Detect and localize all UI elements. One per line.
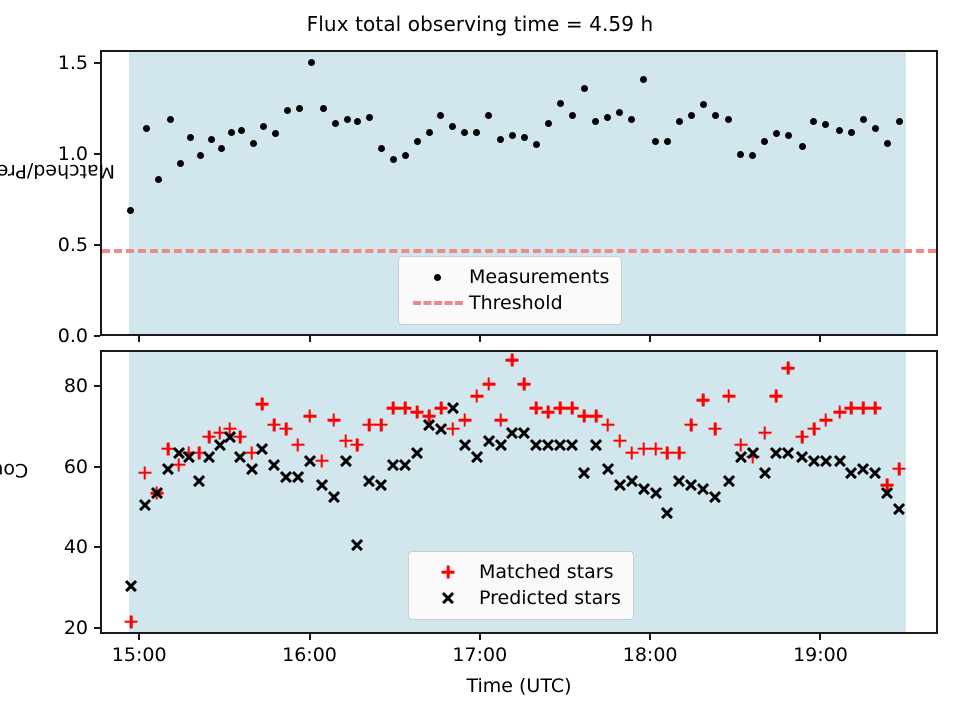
figure-canvas: Flux total observing time = 4.59 h 0.00.… [0,0,960,720]
data-point [589,438,602,451]
data-point [697,394,710,407]
y-tick-mark [94,244,100,246]
data-point [848,129,855,136]
x-tick-mark [819,336,821,342]
data-point [557,100,564,107]
x-tick-mark [309,634,311,640]
data-point [458,414,471,427]
x-tick-mark [309,336,311,342]
x-tick-mark [649,634,651,640]
data-point [613,434,626,447]
data-point [482,378,495,391]
data-point [673,446,686,459]
data-point [291,470,304,483]
data-point [458,438,471,451]
data-point [127,207,134,214]
data-point [375,478,388,491]
data-point [150,486,163,499]
data-point [411,446,424,459]
data-point [315,454,328,467]
data-point [177,160,184,167]
x-tick-mark [649,336,651,342]
data-point [722,390,735,403]
data-point [893,503,906,516]
legend-label-predicted-stars: Predicted stars [475,587,621,609]
data-point [770,390,783,403]
data-point [284,107,291,114]
data-point [578,466,591,479]
counts-y-axis-label-text: Count [0,459,28,481]
data-point [124,615,137,628]
x-tick-mark [819,634,821,640]
data-point [604,114,611,121]
data-point [402,152,409,159]
data-point [250,140,257,147]
data-point [351,438,364,451]
data-point [581,85,588,92]
y-tick-mark [94,627,100,629]
data-point [518,426,531,439]
threshold-line [102,249,936,253]
x-tick-mark [138,336,140,342]
data-point [712,112,719,119]
x-tick-label: 18:00 [623,644,678,666]
y-tick-label: 80 [4,375,88,397]
data-point [628,116,635,123]
data-point [167,116,174,123]
data-point [785,132,792,139]
data-point [782,362,795,375]
data-point [256,442,269,455]
legend-item-predicted-stars[interactable]: Predicted stars [421,585,621,611]
data-point [700,101,707,108]
data-point [494,414,507,427]
data-point [652,138,659,145]
legend-item-threshold[interactable]: Threshold [411,290,609,316]
data-point [509,132,516,139]
count-plot-legend[interactable]: Matched stars Predicted stars [408,551,634,620]
x-tick-mark [138,634,140,640]
data-point [569,112,576,119]
data-point [725,116,732,123]
data-point [182,450,195,463]
legend-label-measurements: Measurements [465,266,609,288]
data-point [822,121,829,128]
data-point [758,426,771,439]
data-point [437,112,444,119]
data-point [245,462,258,475]
data-point [506,354,519,367]
data-point [869,466,882,479]
data-point [893,462,906,475]
legend-item-matched-stars[interactable]: Matched stars [421,559,621,585]
y-tick-label: 0.0 [4,325,88,347]
predicted-stars-marker-icon [421,587,475,609]
data-point [426,129,433,136]
data-point [327,491,340,504]
data-point [449,123,456,130]
page-title: Flux total observing time = 4.59 h [0,12,960,36]
data-point [399,458,412,471]
data-point [485,112,492,119]
x-tick-label: 16:00 [282,644,337,666]
data-point [279,422,292,435]
ratio-plot-legend[interactable]: Measurements Threshold [398,256,622,325]
data-point [378,145,385,152]
y-tick-mark [94,62,100,64]
data-point [332,120,339,127]
data-point [193,474,206,487]
data-point [366,114,373,121]
ratio-y-axis-label-text: Matched/Predicted stars [0,160,115,182]
data-point [649,486,662,499]
data-point [470,450,483,463]
data-point [819,414,832,427]
x-tick-label: 19:00 [793,644,848,666]
data-point [688,112,695,119]
data-point [521,134,528,141]
x-axis-label: Time (UTC) [100,675,938,697]
x-tick-mark [479,634,481,640]
data-point [223,430,236,443]
data-point [881,486,894,499]
data-point [187,134,194,141]
data-point [143,125,150,132]
data-point [782,446,795,459]
data-point [208,136,215,143]
data-point [545,120,552,127]
data-point [414,138,421,145]
data-point [446,402,459,415]
matched-stars-marker-icon [421,561,475,583]
data-point [303,454,316,467]
data-point [773,130,780,137]
data-point [497,136,504,143]
data-point [758,466,771,479]
data-point [810,118,817,125]
data-point [640,76,647,83]
data-point [709,491,722,504]
data-point [256,398,269,411]
data-point [592,118,599,125]
data-point [238,127,245,134]
y-tick-mark [94,153,100,155]
data-point [685,418,698,431]
legend-item-measurements[interactable]: Measurements [411,264,609,290]
data-point [218,145,225,152]
data-point [872,125,879,132]
y-tick-label: 20 [4,617,88,639]
y-tick-mark [94,546,100,548]
data-point [676,118,683,125]
y-tick-mark [94,385,100,387]
data-point [124,579,137,592]
data-point [228,129,235,136]
data-point [268,458,281,471]
data-point [799,143,806,150]
x-tick-label: 17:00 [452,644,507,666]
data-point [351,539,364,552]
y-tick-mark [94,466,100,468]
data-point [375,418,388,431]
data-point [896,118,903,125]
data-point [272,130,279,137]
legend-label-threshold: Threshold [465,292,563,314]
data-point [138,466,151,479]
data-point [473,129,480,136]
data-point [197,152,204,159]
data-point [344,116,351,123]
data-point [833,454,846,467]
data-point [162,462,175,475]
data-point [746,446,759,459]
data-point [327,414,340,427]
data-point [308,59,315,66]
data-point [737,151,744,158]
data-point [138,499,151,512]
legend-label-matched-stars: Matched stars [475,561,613,583]
data-point [470,390,483,403]
data-point [869,402,882,415]
y-tick-label: 1.5 [4,52,88,74]
data-point [884,140,891,147]
data-point [296,105,303,112]
data-point [616,109,623,116]
data-point [315,478,328,491]
data-point [461,129,468,136]
data-point [722,474,735,487]
data-point [434,422,447,435]
y-tick-label: 40 [4,536,88,558]
data-point [664,138,671,145]
data-point [155,176,162,183]
data-point [661,507,674,520]
data-point [819,454,832,467]
data-point [390,156,397,163]
x-tick-mark [479,336,481,342]
threshold-marker-icon [411,292,465,314]
data-point [601,418,614,431]
data-point [761,138,768,145]
data-point [291,438,304,451]
data-point [601,462,614,475]
data-point [354,118,361,125]
data-point [836,127,843,134]
data-point [860,116,867,123]
data-point [709,422,722,435]
y-tick-label: 0.5 [4,234,88,256]
x-tick-label: 15:00 [112,644,167,666]
data-point [518,378,531,391]
data-point [494,438,507,451]
data-point [260,123,267,130]
data-point [533,141,540,148]
data-point [566,438,579,451]
data-point [320,105,327,112]
y-tick-mark [94,335,100,337]
measurements-marker-icon [411,266,465,288]
data-point [339,454,352,467]
data-point [233,450,246,463]
data-point [203,450,216,463]
data-point [303,410,316,423]
data-point [749,152,756,159]
